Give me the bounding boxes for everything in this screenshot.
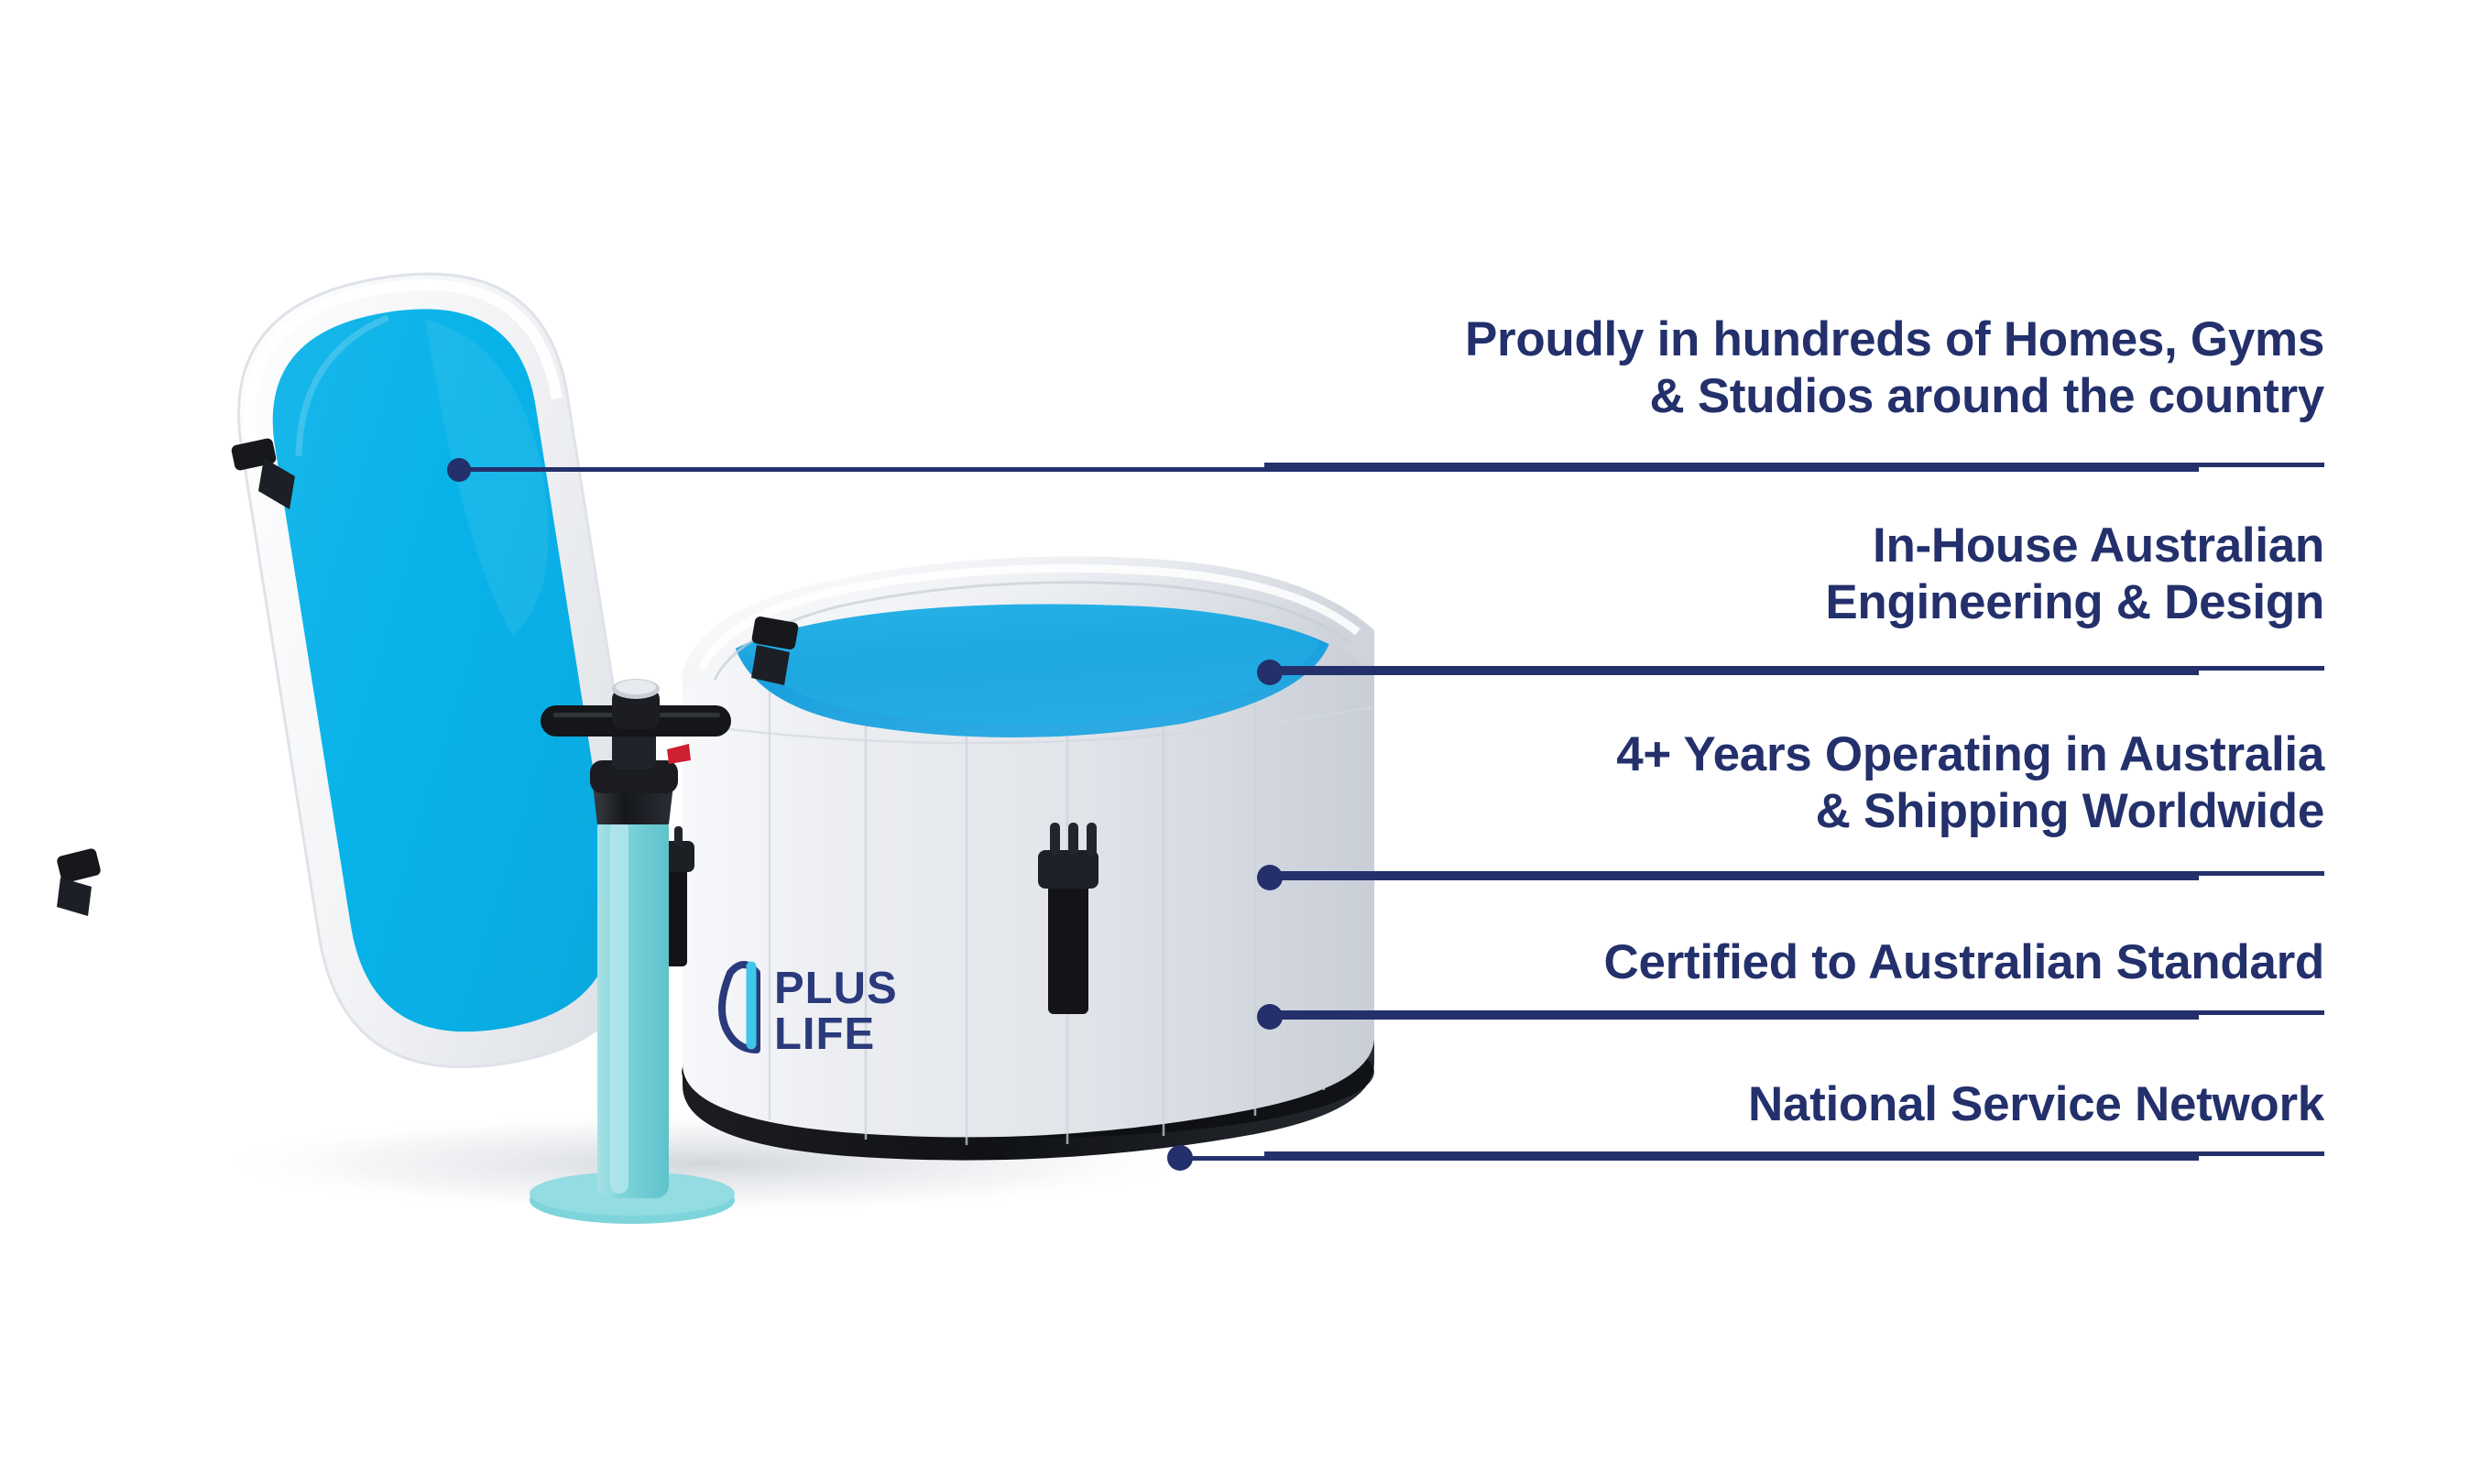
leader-line-5 [1180, 1156, 2199, 1161]
feature-in-house-engineering: In-House Australian Engineering & Design [1264, 518, 2324, 631]
feature-years-operating: 4+ Years Operating in Australia & Shippi… [1264, 726, 2324, 840]
feature-national-service: National Service Network [1264, 1076, 2324, 1133]
leader-line-1 [458, 467, 2199, 472]
feature-rule-2 [1264, 666, 2324, 671]
leader-line-4 [1270, 1015, 2199, 1020]
brand-logo: PLUS LIFE [722, 964, 898, 1059]
feature-homes-gyms-studios: Proudly in hundreds of Homes, Gyms & Stu… [1264, 311, 2324, 425]
infographic-canvas: PLUS LIFE [0, 0, 2470, 1484]
feature-rule-5 [1264, 1151, 2324, 1156]
feature-text-2: In-House Australian Engineering & Design [1264, 518, 2324, 631]
feature-text-4: Certified to Australian Standard [1264, 934, 2324, 991]
feature-text-5: National Service Network [1264, 1076, 2324, 1133]
feature-rule-1 [1264, 463, 2324, 467]
lid-strap-bottom-left [56, 847, 102, 916]
feature-certified-standard: Certified to Australian Standard [1264, 934, 2324, 991]
leader-line-3 [1270, 876, 2199, 880]
feature-text-1: Proudly in hundreds of Homes, Gyms & Stu… [1264, 311, 2324, 425]
product-image: PLUS LIFE [0, 0, 1484, 1484]
tub: PLUS LIFE [647, 556, 1374, 1160]
logo-text-life: LIFE [774, 1009, 875, 1059]
logo-text-plus: PLUS [774, 964, 898, 1013]
pump-cylinder [597, 815, 669, 1198]
leader-line-2 [1270, 671, 2199, 675]
feature-rule-4 [1264, 1010, 2324, 1015]
feature-text-3: 4+ Years Operating in Australia & Shippi… [1264, 726, 2324, 840]
feature-rule-3 [1264, 871, 2324, 876]
